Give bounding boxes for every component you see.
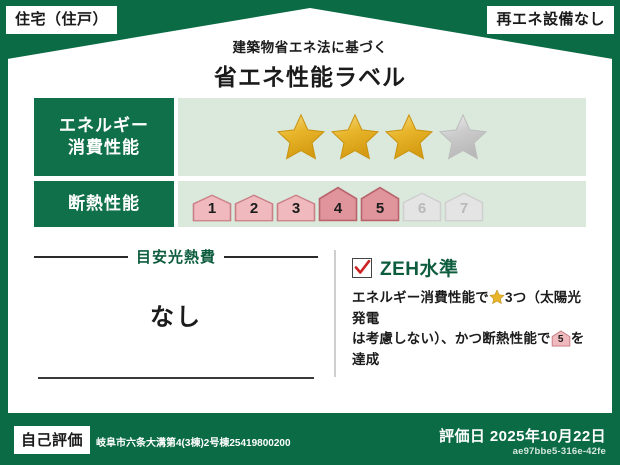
badge-dwelling-type: 住宅（住戸） [6, 6, 117, 34]
energy-performance-value [178, 98, 586, 176]
insulation-level-6: 6 [402, 192, 442, 222]
insulation-performance-value: 1234567 [178, 181, 586, 227]
energy-label-line2: 消費性能 [68, 138, 140, 157]
insulation-level-3: 3 [276, 194, 316, 222]
rule-left [34, 256, 128, 258]
badge-renewable-equipment: 再エネ設備なし [487, 6, 614, 34]
utility-cost-value: なし [34, 297, 318, 332]
lower-section: 目安光熱費 なし ZEH水準 エネルギー消費性能で 3つ（太 [34, 246, 586, 403]
zeh-panel: ZEH水準 エネルギー消費性能で 3つ（太陽光発電 は考慮しない）、かつ断熱性能… [336, 246, 586, 403]
label-title-block: 建築物省エネ法に基づく 省エネ性能ラベル [0, 36, 620, 92]
zeh-desc-part1: エネルギー消費性能で [352, 290, 489, 305]
checkbox-zeh[interactable] [352, 258, 372, 278]
badge-self-evaluation: 自己評価 [14, 426, 90, 454]
label-card: エネルギー 消費性能 断熱性能 1234567 目安光熱費 なし [8, 80, 612, 413]
row-energy-performance: エネルギー 消費性能 [34, 98, 586, 176]
utility-cost-heading-text: 目安光熱費 [136, 246, 216, 267]
house-shape-icon [360, 186, 400, 222]
star-rating [275, 112, 489, 162]
utility-cost-underline [38, 377, 314, 379]
footer: 自己評価 岐阜市六条大溝第4(3棟)2号棟25419800200 評価日 202… [0, 413, 620, 465]
zeh-title: ZEH水準 [380, 254, 459, 281]
utility-cost-panel: 目安光熱費 なし [34, 246, 334, 403]
property-address: 岐阜市六条大溝第4(3棟)2号棟25419800200 [96, 434, 291, 449]
star-filled-icon [275, 112, 327, 162]
evaluation-date: 評価日 2025年10月22日 [439, 425, 606, 446]
insulation-level-1: 1 [192, 194, 232, 222]
insulation-level-7: 7 [444, 192, 484, 222]
inline-house-number: 5 [551, 332, 571, 347]
house-shape-icon [276, 194, 316, 222]
label-subtitle: 建築物省エネ法に基づく [0, 36, 620, 56]
inline-house-badge: 5 [551, 330, 571, 347]
energy-label-line1: エネルギー [59, 116, 149, 135]
house-shape-icon [234, 194, 274, 222]
document-hash: ae97bbe5-316e-42fe [513, 446, 606, 457]
performance-rows: エネルギー 消費性能 断熱性能 1234567 [34, 98, 586, 232]
inline-star-icon [489, 289, 505, 305]
rule-right [224, 256, 318, 258]
row-label-energy-performance: エネルギー 消費性能 [34, 98, 174, 176]
star-filled-icon [383, 112, 435, 162]
house-shape-icon [318, 186, 358, 222]
check-icon [354, 259, 371, 277]
row-label-insulation-performance: 断熱性能 [34, 181, 174, 227]
utility-cost-heading: 目安光熱費 [34, 246, 318, 267]
house-shape-icon [444, 192, 484, 222]
house-shape-icon [402, 192, 442, 222]
insulation-level-5: 5 [360, 186, 400, 222]
insulation-level-scale: 1234567 [192, 186, 484, 222]
star-empty-icon [437, 112, 489, 162]
house-shape-icon [192, 194, 232, 222]
row-insulation-performance: 断熱性能 1234567 [34, 181, 586, 227]
star-filled-icon [329, 112, 381, 162]
insulation-level-4: 4 [318, 186, 358, 222]
insulation-level-2: 2 [234, 194, 274, 222]
zeh-heading: ZEH水準 [352, 254, 586, 281]
zeh-description: エネルギー消費性能で 3つ（太陽光発電 は考慮しない）、かつ断熱性能で 5 を達… [352, 288, 586, 370]
zeh-desc-part2: は考慮しない）、かつ断熱性能で [352, 331, 551, 346]
page-title: 省エネ性能ラベル [0, 58, 620, 92]
